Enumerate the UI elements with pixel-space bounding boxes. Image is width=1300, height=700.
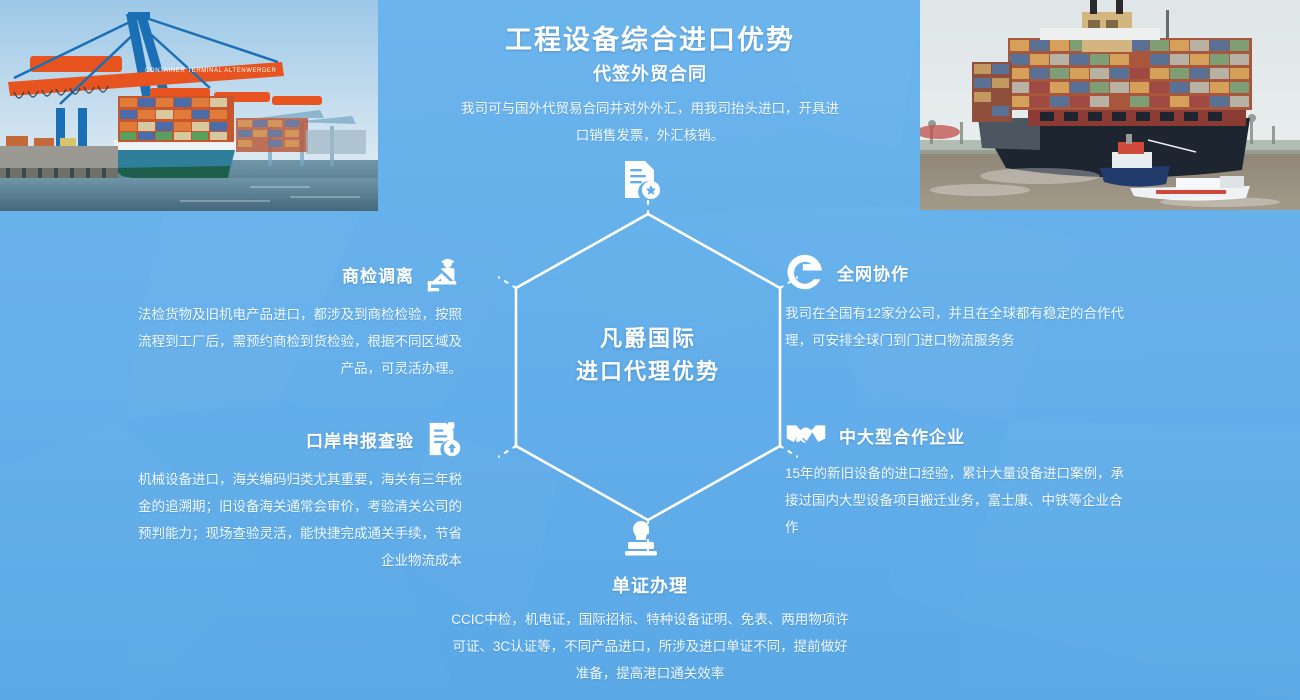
- document-add-icon: [619, 158, 663, 202]
- feature-desc: 我司在全国有12家分公司，并且在全球都有稳定的合作代理，可安排全球门到门进口物流…: [785, 300, 1130, 354]
- center-label: 凡爵国际 进口代理优势: [498, 322, 798, 388]
- feature-desc: 法检货物及旧机电产品进口，都涉及到商检检验，按照流程到工厂后，需预约商检到货检验…: [132, 301, 462, 382]
- page-title: 工程设备综合进口优势: [0, 18, 1300, 57]
- feature-title: 全网协作: [837, 260, 909, 285]
- feature-block-bottom: 单证办理 CCIC中检，机电证，国际招标、特种设备证明、免表、两用物项许可证、3…: [440, 572, 860, 687]
- inspector-desk-icon: [424, 255, 462, 293]
- center-label-line2: 进口代理优势: [498, 355, 798, 388]
- hexagon-diagram: 凡爵国际 进口代理优势: [498, 196, 798, 562]
- feature-desc: CCIC中检，机电证，国际招标、特种设备证明、免表、两用物项许可证、3C认证等，…: [440, 606, 860, 687]
- feature-title: 代签外贸合同: [450, 60, 850, 86]
- document-upload-icon: [424, 420, 462, 458]
- feature-block-left-1: 商检调离 法检货物及旧机电产品进口，都涉及到商检检验，: [132, 255, 462, 382]
- feature-title: 口岸申报查验: [306, 427, 414, 452]
- feature-block-left-2: 口岸申报查验 机械设备进口，海关编码归类尤其重要，海关有三年税金的追溯期；旧设备…: [132, 420, 462, 574]
- feature-block-right-1: 全网协作 我司在全国有12家分公司，并且在全球都有稳定的合作代理，可安排全球门到…: [785, 252, 1130, 354]
- feature-desc: 机械设备进口，海关编码归类尤其重要，海关有三年税金的追溯期；旧设备海关通常会审价…: [132, 466, 462, 574]
- rubber-stamp-icon: [621, 518, 661, 558]
- feature-block-top: 代签外贸合同 我司可与国外代贸易合同并对外外汇，用我司抬头进口，开具进口销售发票…: [450, 60, 850, 149]
- feature-desc: 我司可与国外代贸易合同并对外外汇，用我司抬头进口，开具进口销售发票，外汇核销。: [450, 95, 850, 149]
- feature-block-right-2: 中大型合作企业 15年的新旧设备的进口经验，累计大量设备进口案例，承接过国内大型…: [785, 418, 1130, 541]
- handshake-icon: [785, 418, 827, 452]
- center-label-line1: 凡爵国际: [498, 322, 798, 355]
- feature-title: 单证办理: [440, 572, 860, 598]
- feature-desc: 15年的新旧设备的进口经验，累计大量设备进口案例，承接过国内大型设备项目搬迁业务…: [785, 460, 1130, 541]
- browser-e-icon: [785, 252, 825, 292]
- feature-title: 中大型合作企业: [839, 423, 965, 448]
- feature-title: 商检调离: [342, 262, 414, 287]
